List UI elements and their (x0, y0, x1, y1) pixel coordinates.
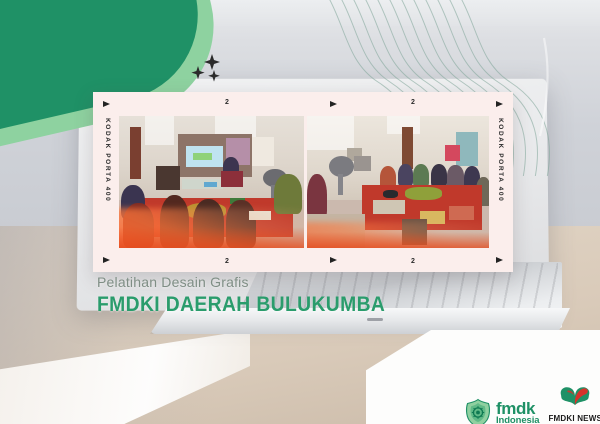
film-arrow-bottom-right (496, 257, 503, 263)
headline-block: Pelatihan Desain Grafis FMDKI DAERAH BUL… (97, 274, 410, 317)
film-side-label-left: KODAK PORTA 400 (104, 118, 111, 202)
film-number-top-left: 2 (225, 99, 229, 106)
heart-swoosh-emblem-icon (556, 385, 594, 413)
film-arrow-bottom-left (103, 257, 110, 263)
poster-canvas: 2 2 2 2 KODAK PORTA 400 KODAK PORTA 400 (0, 0, 600, 424)
film-arrow-top-right (496, 101, 503, 107)
mosque-dome-emblem-icon (463, 398, 493, 424)
logo-group: fmdk Indonesia FMDKI NEWS Program Media … (463, 385, 600, 424)
logo-fmdki-news: FMDKI NEWS Program Media Dakwah Pemuda (548, 385, 600, 424)
film-arrow-top-mid (330, 101, 337, 107)
logo-fmdk-indonesia: fmdk Indonesia (463, 398, 539, 424)
film-arrow-top-left (103, 101, 110, 107)
photo-left (119, 116, 304, 248)
logo-fmdki-news-main: FMDKI NEWS (548, 414, 600, 423)
kicker-text: Pelatihan Desain Grafis (97, 274, 410, 290)
logo-fmdk-text: fmdk Indonesia (496, 400, 539, 424)
film-number-bottom-left: 2 (225, 258, 229, 265)
film-strip: 2 2 2 2 KODAK PORTA 400 KODAK PORTA 400 (93, 92, 513, 272)
film-arrow-bottom-mid (330, 257, 337, 263)
page-title: FMDKI DAERAH BULUKUMBA (97, 293, 385, 317)
laptop-trackpad-notch (367, 318, 383, 321)
photo-right (307, 116, 489, 248)
film-side-label-right: KODAK PORTA 400 (497, 118, 504, 202)
sparkle-decoration (188, 52, 232, 88)
film-number-top-right: 2 (411, 99, 415, 106)
logo-fmdk-sub: Indonesia (496, 416, 539, 424)
film-number-bottom-right: 2 (411, 258, 415, 265)
